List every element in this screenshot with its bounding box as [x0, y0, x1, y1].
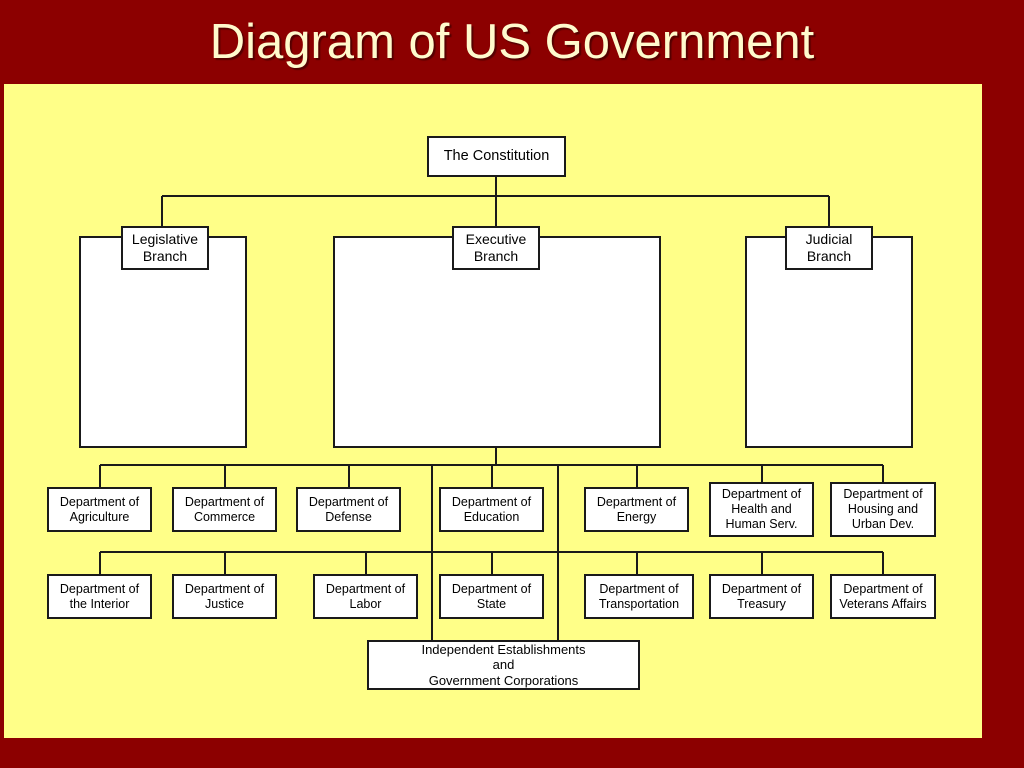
node-department-justice[interactable]: Department of Justice	[172, 574, 277, 619]
node-department-education[interactable]: Department of Education	[439, 487, 544, 532]
branch-title-line2: Branch	[474, 248, 518, 265]
dept-line1: Department of	[843, 487, 922, 502]
dept-line1: Department of	[452, 495, 531, 510]
page-title: Diagram of US Government	[210, 14, 815, 70]
branch-title-line2: Branch	[143, 248, 187, 265]
node-department-the-interior[interactable]: Department of the Interior	[47, 574, 152, 619]
dept-line3: Urban Dev.	[852, 517, 914, 532]
dept-line1: Department of	[599, 582, 678, 597]
dept-line2: Transportation	[599, 597, 679, 612]
branch-title-line2: Branch	[807, 248, 851, 265]
diagram-canvas: The Constitution Legislative Branch GAO …	[4, 84, 982, 738]
slide: Diagram of US Government	[0, 0, 1024, 768]
dept-line1: Department of	[185, 582, 264, 597]
branch-title-line1: Executive	[466, 231, 527, 248]
node-department-agriculture[interactable]: Department of Agriculture	[47, 487, 152, 532]
dept-line2: Housing and	[848, 502, 918, 517]
dept-line1: Department of	[185, 495, 264, 510]
dept-line1: Department of	[722, 582, 801, 597]
dept-line2: Agriculture	[70, 510, 130, 525]
dept-line2: Energy	[617, 510, 657, 525]
dept-line1: Department of	[452, 582, 531, 597]
dept-line1: Department of	[722, 487, 801, 502]
node-department-housing-and-urban-development[interactable]: Department of Housing and Urban Dev.	[830, 482, 936, 537]
dept-line1: Department of	[843, 582, 922, 597]
node-department-transportation[interactable]: Department of Transportation	[584, 574, 694, 619]
node-the-constitution[interactable]: The Constitution	[427, 136, 566, 177]
dept-line1: Department of	[597, 495, 676, 510]
dept-line2: the Interior	[70, 597, 130, 612]
dept-line1: Department of	[309, 495, 388, 510]
node-department-defense[interactable]: Department of Defense	[296, 487, 401, 532]
dept-line1: Department of	[60, 582, 139, 597]
node-judicial-branch-header[interactable]: Judicial Branch	[785, 226, 873, 270]
node-executive-branch-header[interactable]: Executive Branch	[452, 226, 540, 270]
footer-line3: Government Corporations	[429, 673, 579, 688]
dept-line2: Justice	[205, 597, 244, 612]
branch-title-line1: Judicial	[806, 231, 853, 248]
node-department-veterans-affairs[interactable]: Department of Veterans Affairs	[830, 574, 936, 619]
dept-line3: Human Serv.	[725, 517, 797, 532]
node-department-labor[interactable]: Department of Labor	[313, 574, 418, 619]
footer-line1: Independent Establishments	[421, 642, 585, 657]
dept-line2: Labor	[350, 597, 382, 612]
dept-line1: Department of	[326, 582, 405, 597]
node-label: The Constitution	[444, 148, 550, 165]
dept-line2: Commerce	[194, 510, 255, 525]
node-independent-establishments[interactable]: Independent Establishments and Governmen…	[367, 640, 640, 690]
dept-line2: Health and	[731, 502, 791, 517]
dept-line2: Defense	[325, 510, 372, 525]
dept-line2: Education	[464, 510, 520, 525]
node-department-energy[interactable]: Department of Energy	[584, 487, 689, 532]
dept-line2: Veterans Affairs	[839, 597, 926, 612]
footer-line2: and	[493, 657, 515, 672]
node-department-commerce[interactable]: Department of Commerce	[172, 487, 277, 532]
node-department-state[interactable]: Department of State	[439, 574, 544, 619]
node-department-health-and-human-services[interactable]: Department of Health and Human Serv.	[709, 482, 814, 537]
node-department-treasury[interactable]: Department of Treasury	[709, 574, 814, 619]
dept-line2: State	[477, 597, 506, 612]
dept-line1: Department of	[60, 495, 139, 510]
dept-line2: Treasury	[737, 597, 786, 612]
node-legislative-branch-header[interactable]: Legislative Branch	[121, 226, 209, 270]
title-bar: Diagram of US Government	[0, 0, 1024, 84]
branch-title-line1: Legislative	[132, 231, 198, 248]
